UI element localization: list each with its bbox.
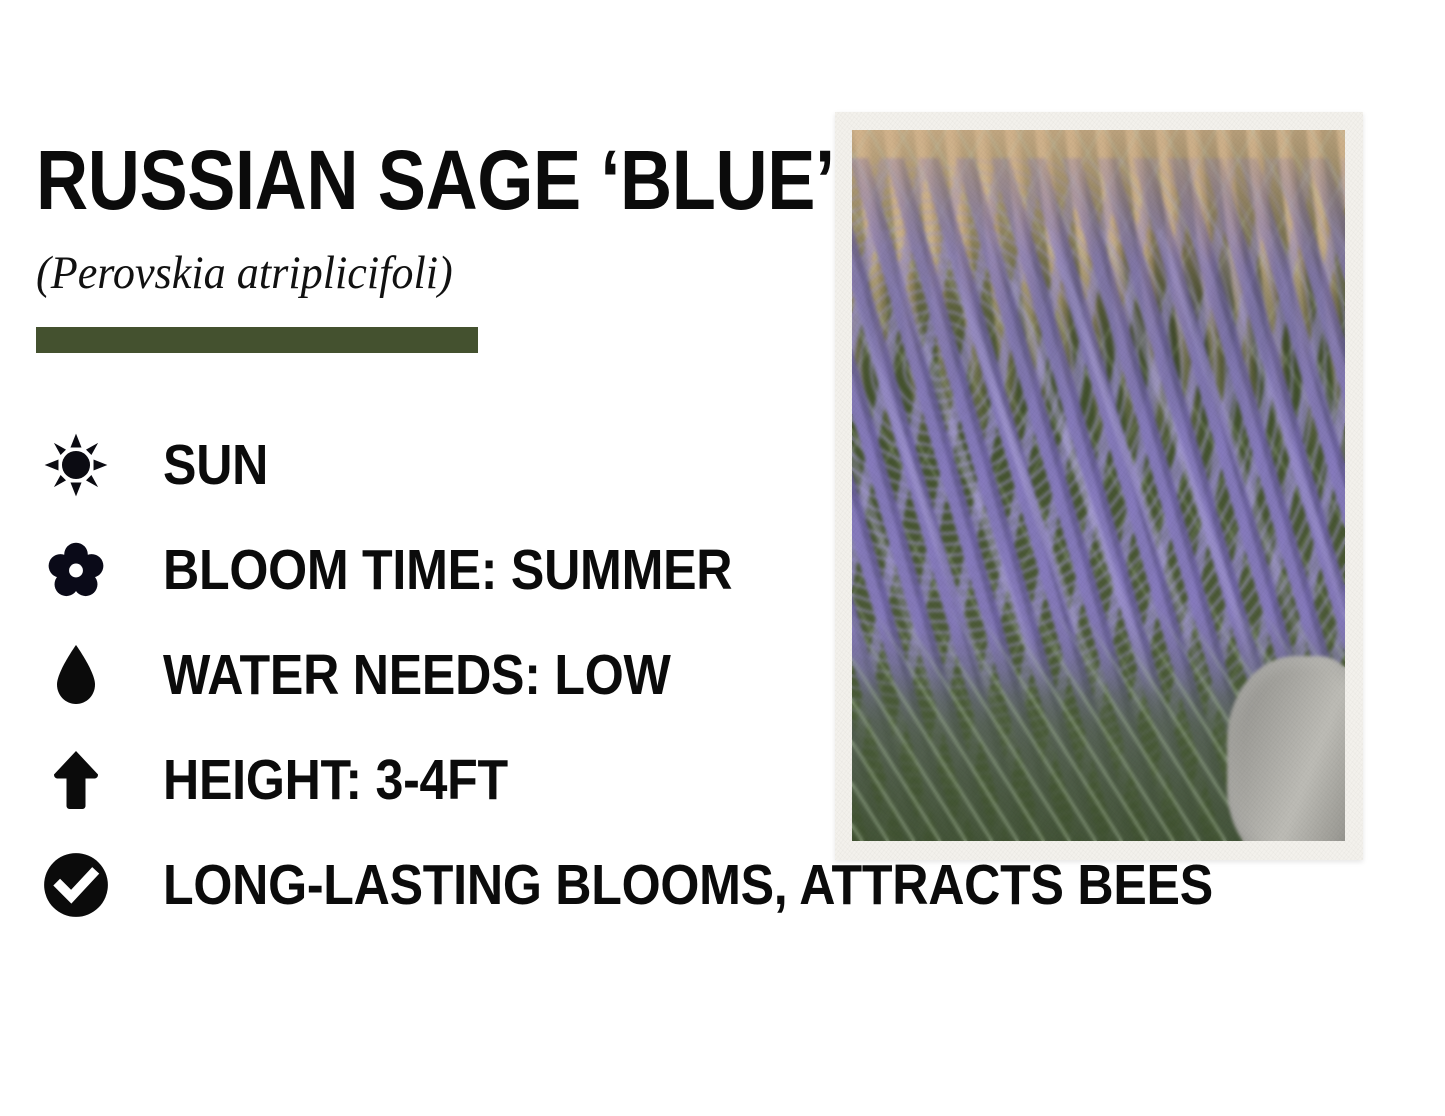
up-arrow-icon (42, 746, 110, 814)
feature-label-benefits: LONG-LASTING BLOOMS, ATTRACTS BEES (163, 855, 1213, 915)
flower-icon (42, 536, 110, 604)
page-title: RUSSIAN SAGE ‘BLUE’ (36, 136, 835, 224)
plant-photo (852, 130, 1345, 841)
title-divider (36, 327, 478, 353)
feature-label-height: HEIGHT: 3-4FT (163, 750, 508, 810)
photo-frame (835, 112, 1363, 860)
water-drop-icon (42, 641, 110, 709)
photo-softening-overlay (852, 130, 1345, 841)
photo-artwork (852, 130, 1345, 841)
feature-label-sun: SUN (163, 435, 268, 495)
feature-label-bloom-time: BLOOM TIME: SUMMER (163, 540, 732, 600)
feature-label-water-needs: WATER NEEDS: LOW (163, 645, 671, 705)
check-circle-icon (42, 851, 110, 919)
botanical-name-subtitle: (Perovskia atriplicifoli) (36, 247, 453, 299)
sun-icon (42, 431, 110, 499)
